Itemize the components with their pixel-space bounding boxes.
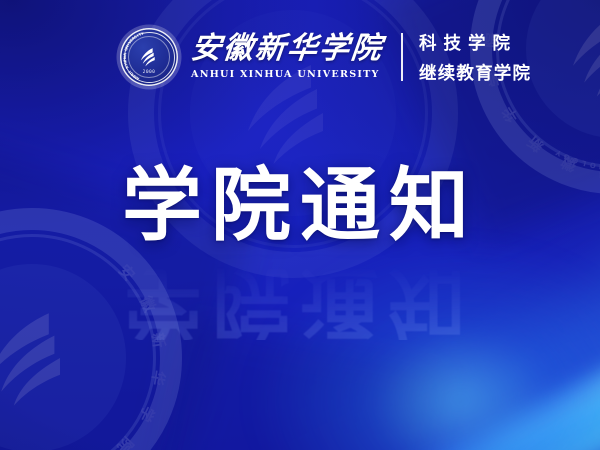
arc-character: 新 [147, 331, 170, 349]
university-seal-emblem-icon: 2000 ANHUIXINHUAUNIVERSITY [120, 28, 178, 86]
branch-name-technology: 科技学院 [419, 30, 531, 55]
swoosh-wave-icon [545, 0, 600, 119]
university-name-cn: 安徽新华学院 [189, 34, 384, 65]
swoosh-wave-icon [0, 288, 102, 428]
branch-name-continuing-education: 继续教育学院 [419, 60, 531, 85]
university-name-block: 安徽新华学院 ANHUI XINHUA UNIVERSITY [191, 34, 383, 80]
emblem-swoosh-icon [136, 44, 162, 70]
page-title: 学院通知 [0, 166, 600, 246]
arc-character: Y [141, 32, 145, 37]
arc-character: A [123, 53, 127, 56]
notice-banner: 安徽新华学院科技学院 安徽新华学院 SCHOOLOFSCIENCEANDTECH… [0, 0, 600, 450]
corner-glow [250, 240, 600, 450]
branch-name-block: 科技学院 继续教育学院 [419, 30, 531, 85]
logo-lockup: 2000 ANHUIXINHUAUNIVERSITY 安徽新华学院 ANHUI … [120, 26, 531, 88]
arc-character: 华 [147, 369, 170, 387]
university-name-en: ANHUI XINHUA UNIVERSITY [191, 69, 383, 80]
logo-divider [401, 33, 403, 81]
